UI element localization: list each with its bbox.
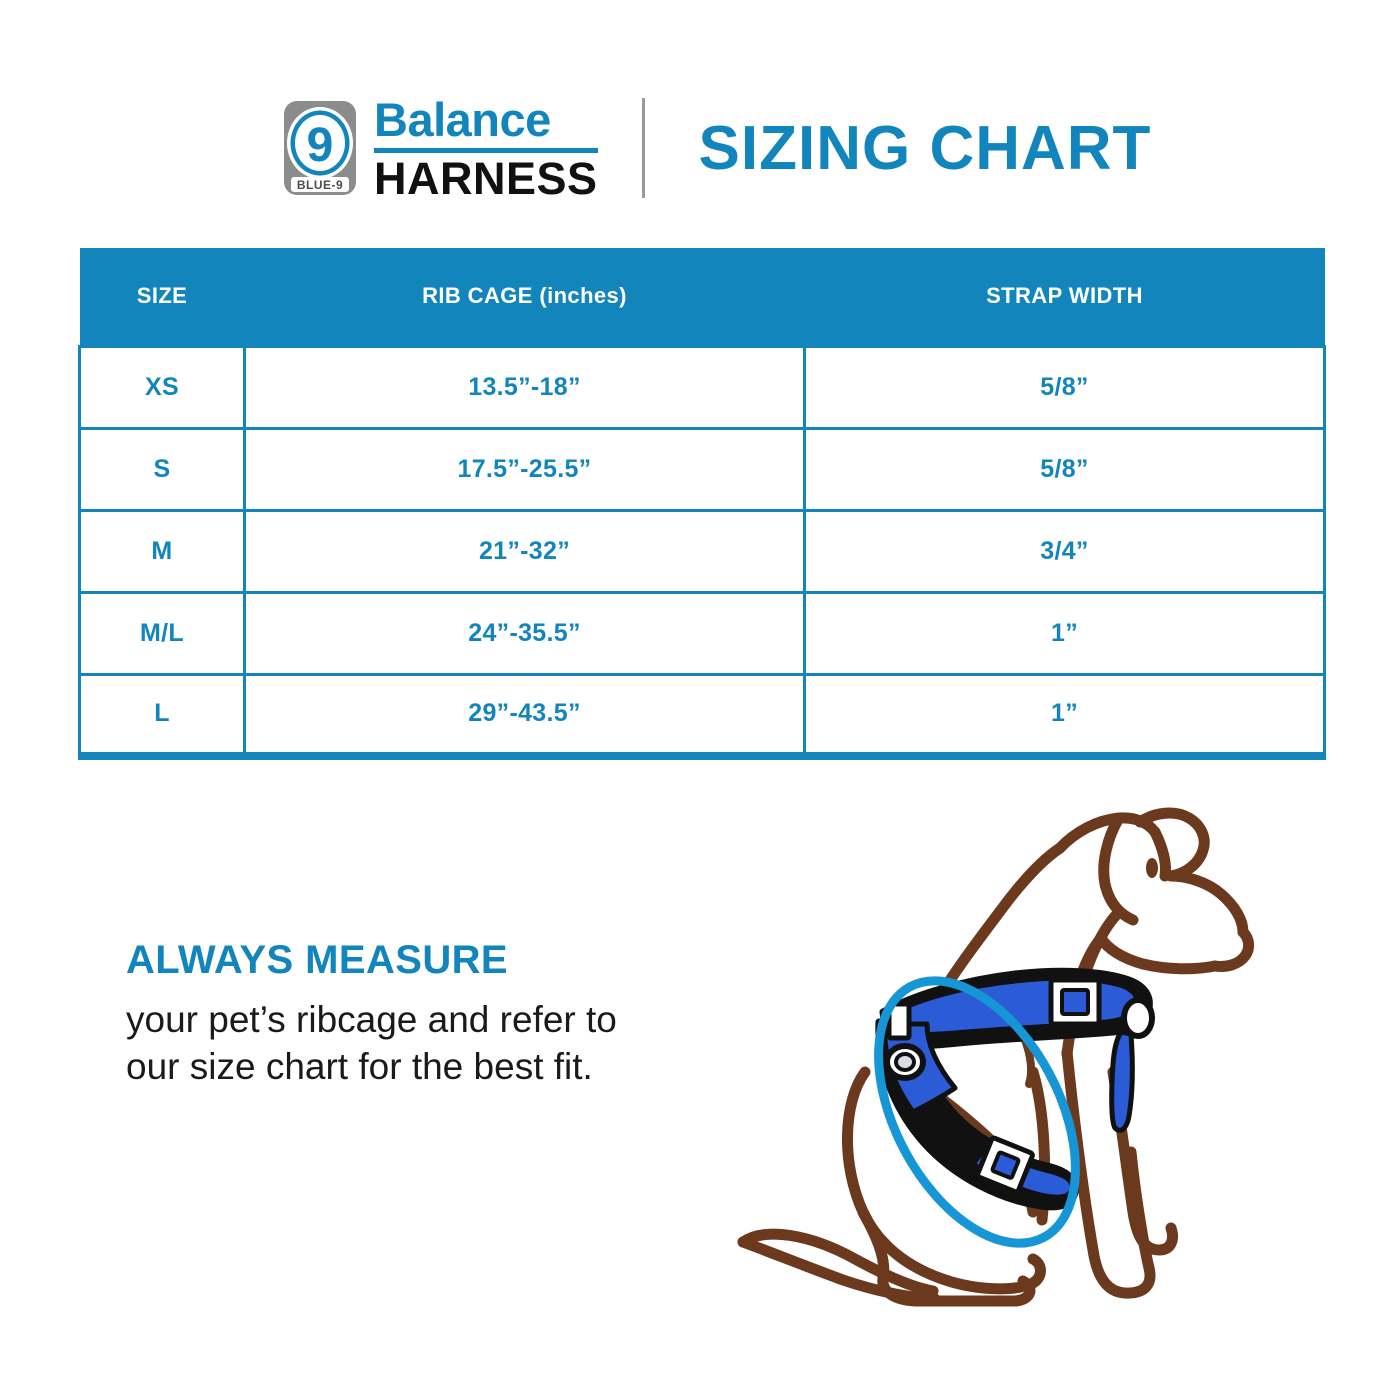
column-header-size: SIZE: [80, 248, 245, 346]
cell-rib-cage: 13.5”-18”: [245, 346, 805, 428]
table-header: SIZE RIB CAGE (inches) STRAP WIDTH: [80, 248, 1325, 346]
table-row: XS 13.5”-18” 5/8”: [80, 346, 1325, 428]
table-row: M/L 24”-35.5” 1”: [80, 592, 1325, 674]
brand-logo: 9 BLUE-9 Balance HARNESS: [282, 96, 598, 201]
harness-buckle-upper: [1051, 980, 1099, 1024]
cell-strap-width: 5/8”: [805, 428, 1325, 510]
sizing-chart-page: 9 BLUE-9 Balance HARNESS SIZING CHART: [0, 0, 1400, 1400]
sizing-table-container: SIZE RIB CAGE (inches) STRAP WIDTH XS 13…: [78, 248, 1323, 760]
svg-text:BLUE-9: BLUE-9: [297, 178, 343, 192]
dog-harness-illustration: [715, 772, 1285, 1332]
product-wordmark: Balance HARNESS: [374, 96, 598, 201]
table-row: S 17.5”-25.5” 5/8”: [80, 428, 1325, 510]
measure-line-1: your pet’s ribcage and refer to: [126, 996, 766, 1043]
dog-outline-group: [743, 813, 1249, 1301]
cell-strap-width: 1”: [805, 674, 1325, 756]
wordmark-balance: Balance: [374, 96, 598, 146]
measure-line-2: our size chart for the best fit.: [126, 1043, 766, 1090]
page-header: 9 BLUE-9 Balance HARNESS SIZING CHART: [0, 88, 1400, 208]
cell-size: XS: [80, 346, 245, 428]
svg-text:9: 9: [307, 119, 334, 172]
cell-rib-cage: 29”-43.5”: [245, 674, 805, 756]
column-header-strap-width: STRAP WIDTH: [805, 248, 1325, 346]
table-body: XS 13.5”-18” 5/8” S 17.5”-25.5” 5/8” M 2…: [80, 346, 1325, 756]
measure-body: your pet’s ribcage and refer to our size…: [126, 996, 766, 1091]
wordmark-divider-rule: [374, 148, 598, 153]
harness-d-ring-front: [1124, 1000, 1152, 1036]
table-header-row: SIZE RIB CAGE (inches) STRAP WIDTH: [80, 248, 1325, 346]
cell-rib-cage: 24”-35.5”: [245, 592, 805, 674]
sizing-table: SIZE RIB CAGE (inches) STRAP WIDTH XS 13…: [78, 248, 1326, 760]
harness-d-ring-rear: [887, 1046, 923, 1078]
cell-rib-cage: 21”-32”: [245, 510, 805, 592]
cell-strap-width: 5/8”: [805, 346, 1325, 428]
blue9-shield-icon: 9 BLUE-9: [282, 99, 358, 197]
cell-size: M/L: [80, 592, 245, 674]
dog-eye: [1146, 858, 1158, 878]
header-vertical-divider: [642, 98, 645, 198]
cell-strap-width: 3/4”: [805, 510, 1325, 592]
column-header-rib-cage: RIB CAGE (inches): [245, 248, 805, 346]
table-row: M 21”-32” 3/4”: [80, 510, 1325, 592]
page-title: SIZING CHART: [699, 113, 1152, 184]
table-row: L 29”-43.5” 1”: [80, 674, 1325, 756]
wordmark-harness: HARNESS: [374, 156, 598, 201]
cell-rib-cage: 17.5”-25.5”: [245, 428, 805, 510]
cell-size: S: [80, 428, 245, 510]
always-measure-callout: ALWAYS MEASURE your pet’s ribcage and re…: [126, 938, 766, 1091]
cell-size: L: [80, 674, 245, 756]
cell-strap-width: 1”: [805, 592, 1325, 674]
measure-heading: ALWAYS MEASURE: [126, 938, 766, 982]
cell-size: M: [80, 510, 245, 592]
